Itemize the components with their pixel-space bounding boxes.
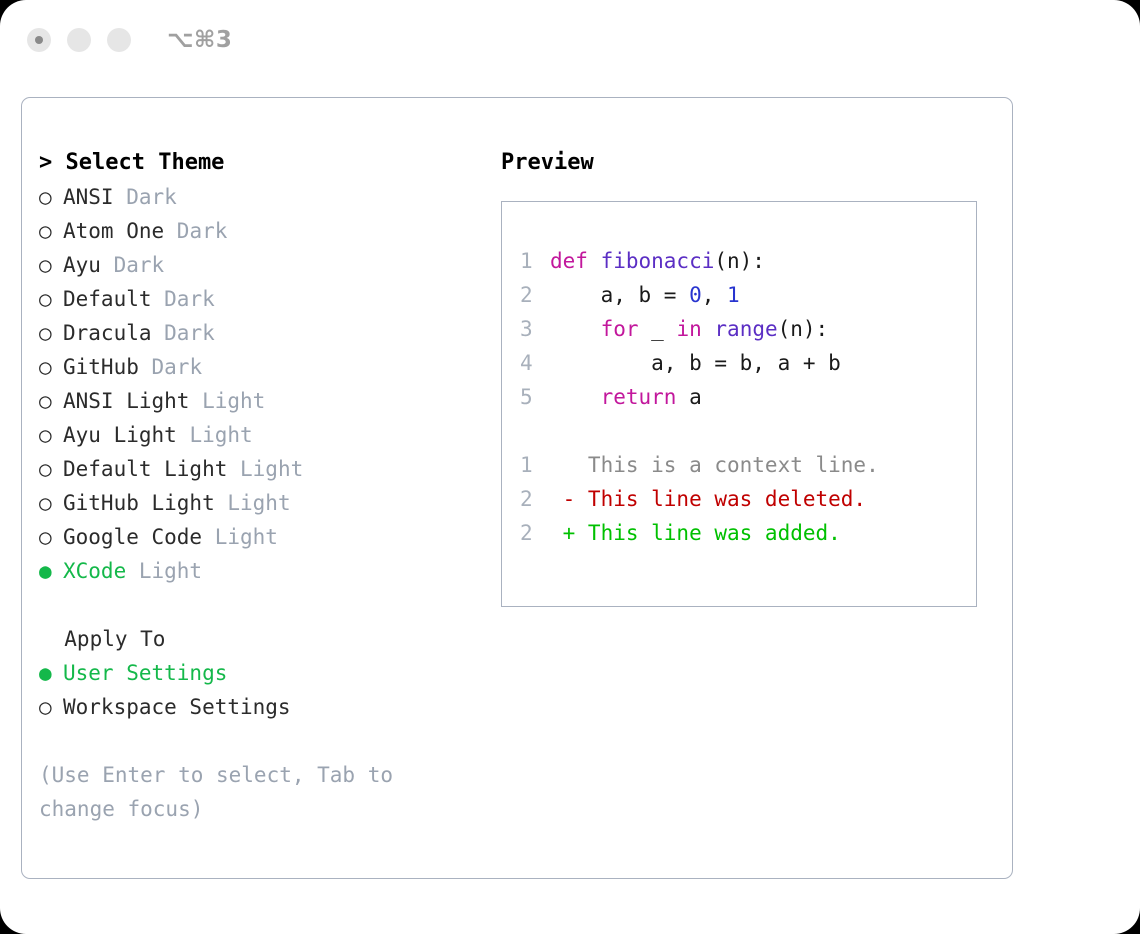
code-token-kw: in (676, 317, 701, 341)
window-dot-third-icon[interactable] (107, 28, 131, 52)
app-window: ⌥⌘3 > Select Theme ○ANSI Dark○Atom One D… (0, 0, 1140, 934)
code-token-fn: range (714, 317, 777, 341)
radio-unselected-icon: ○ (39, 214, 63, 248)
theme-variant-label: Dark (164, 287, 215, 311)
radio-unselected-icon: ○ (39, 384, 63, 418)
theme-name-label: GitHub (63, 355, 152, 379)
preview-heading: Preview (501, 146, 991, 180)
theme-variant-label: Dark (164, 321, 215, 345)
diff-line: 2 + This line was added. (520, 516, 976, 550)
code-token-pl: a, b = b, a + b (550, 351, 841, 375)
code-token-pl (702, 317, 715, 341)
line-number-label: 2 (520, 482, 550, 516)
apply-to-label: User Settings (63, 661, 227, 685)
apply-to-list: ●User Settings○Workspace Settings (39, 656, 469, 724)
theme-list-item[interactable]: ○Dracula Dark (39, 316, 469, 350)
code-line: 4 a, b = b, a + b (520, 346, 976, 380)
theme-name-label: Google Code (63, 525, 215, 549)
code-preview-box: 1def fibonacci(n):2 a, b = 0, 13 for _ i… (501, 201, 977, 607)
theme-list-column: > Select Theme ○ANSI Dark○Atom One Dark○… (39, 146, 469, 826)
radio-unselected-icon: ○ (39, 248, 63, 282)
keyboard-hint-text: (Use Enter to select, Tab to change focu… (39, 758, 439, 826)
theme-variant-label: Dark (126, 185, 177, 209)
theme-variant-label: Dark (114, 253, 165, 277)
radio-unselected-icon: ○ (39, 520, 63, 554)
theme-list-item[interactable]: ○ANSI Light Light (39, 384, 469, 418)
window-dot-active-icon[interactable] (27, 28, 51, 52)
radio-unselected-icon: ○ (39, 180, 63, 214)
line-number-label: 5 (520, 380, 550, 414)
theme-name-label: ANSI (63, 185, 126, 209)
code-token-fn: fibonacci (601, 249, 715, 273)
radio-unselected-icon: ○ (39, 690, 63, 724)
diff-sample: 1 This is a context line.2 - This line w… (520, 448, 976, 550)
theme-list-item[interactable]: ○GitHub Dark (39, 350, 469, 384)
diff-line: 2 - This line was deleted. (520, 482, 976, 516)
theme-name-label: XCode (63, 559, 139, 583)
apply-to-item[interactable]: ●User Settings (39, 656, 469, 690)
line-number-label: 1 (520, 448, 550, 482)
code-token-ctx: This is a context line. (550, 453, 879, 477)
theme-list-item[interactable]: ○ANSI Dark (39, 180, 469, 214)
theme-list-item[interactable]: ○Ayu Dark (39, 248, 469, 282)
apply-to-heading: Apply To (39, 622, 469, 656)
radio-selected-icon: ● (39, 656, 63, 690)
code-token-pl (550, 317, 601, 341)
apply-to-item[interactable]: ○Workspace Settings (39, 690, 469, 724)
theme-variant-label: Light (139, 559, 202, 583)
line-number-label: 4 (520, 346, 550, 380)
apply-to-label: Workspace Settings (63, 695, 291, 719)
radio-unselected-icon: ○ (39, 316, 63, 350)
line-number-label: 2 (520, 278, 550, 312)
theme-name-label: Atom One (63, 219, 177, 243)
radio-selected-icon: ● (39, 554, 63, 588)
code-token-pl: , (702, 283, 727, 307)
radio-unselected-icon: ○ (39, 486, 63, 520)
code-diff-spacer (520, 414, 976, 448)
select-theme-heading: > Select Theme (39, 146, 469, 180)
theme-list-item[interactable]: ●XCode Light (39, 554, 469, 588)
theme-list-item[interactable]: ○Atom One Dark (39, 214, 469, 248)
keyboard-shortcut-label: ⌥⌘3 (167, 27, 232, 53)
radio-unselected-icon: ○ (39, 350, 63, 384)
code-line: 1def fibonacci(n): (520, 244, 976, 278)
theme-variant-label: Dark (177, 219, 228, 243)
code-token-pl: a, b = (550, 283, 689, 307)
theme-name-label: GitHub Light (63, 491, 227, 515)
code-line: 5 return a (520, 380, 976, 414)
theme-name-label: Default Light (63, 457, 240, 481)
theme-variant-label: Light (202, 389, 265, 413)
theme-list-item[interactable]: ○Default Dark (39, 282, 469, 316)
radio-unselected-icon: ○ (39, 418, 63, 452)
line-number-label: 3 (520, 312, 550, 346)
code-sample: 1def fibonacci(n):2 a, b = 0, 13 for _ i… (520, 244, 976, 414)
preview-column: Preview 1def fibonacci(n):2 a, b = 0, 13… (501, 146, 991, 607)
code-token-num: 0 (689, 283, 702, 307)
theme-list-item[interactable]: ○Google Code Light (39, 520, 469, 554)
diff-line: 1 This is a context line. (520, 448, 976, 482)
theme-list-item[interactable]: ○GitHub Light Light (39, 486, 469, 520)
code-token-pl: a (676, 385, 701, 409)
theme-variant-label: Light (227, 491, 290, 515)
code-token-del: - This line was deleted. (550, 487, 866, 511)
code-token-pl: _ (639, 317, 677, 341)
code-line: 3 for _ in range(n): (520, 312, 976, 346)
theme-picker-panel: > Select Theme ○ANSI Dark○Atom One Dark○… (21, 97, 1013, 879)
window-dot-second-icon[interactable] (67, 28, 91, 52)
theme-variant-label: Dark (152, 355, 203, 379)
line-number-label: 1 (520, 244, 550, 278)
theme-name-label: Dracula (63, 321, 164, 345)
theme-name-label: Default (63, 287, 164, 311)
line-number-label: 2 (520, 516, 550, 550)
theme-list: ○ANSI Dark○Atom One Dark○Ayu Dark○Defaul… (39, 180, 469, 588)
theme-name-label: Ayu Light (63, 423, 189, 447)
theme-list-item[interactable]: ○Ayu Light Light (39, 418, 469, 452)
theme-variant-label: Light (240, 457, 303, 481)
theme-variant-label: Light (215, 525, 278, 549)
code-token-kw: return (601, 385, 677, 409)
radio-unselected-icon: ○ (39, 282, 63, 316)
theme-list-item[interactable]: ○Default Light Light (39, 452, 469, 486)
code-token-kw: for (601, 317, 639, 341)
code-token-pl (550, 385, 601, 409)
theme-variant-label: Light (189, 423, 252, 447)
code-line: 2 a, b = 0, 1 (520, 278, 976, 312)
window-dot-active-inner-icon (35, 36, 43, 44)
code-token-kw: def (550, 249, 601, 273)
radio-unselected-icon: ○ (39, 452, 63, 486)
theme-name-label: Ayu (63, 253, 114, 277)
code-token-pl: (n): (778, 317, 829, 341)
window-controls (27, 28, 131, 52)
code-token-num: 1 (727, 283, 740, 307)
code-token-pl: (n): (714, 249, 765, 273)
code-token-add: + This line was added. (550, 521, 841, 545)
theme-name-label: ANSI Light (63, 389, 202, 413)
title-bar: ⌥⌘3 (0, 0, 1140, 80)
